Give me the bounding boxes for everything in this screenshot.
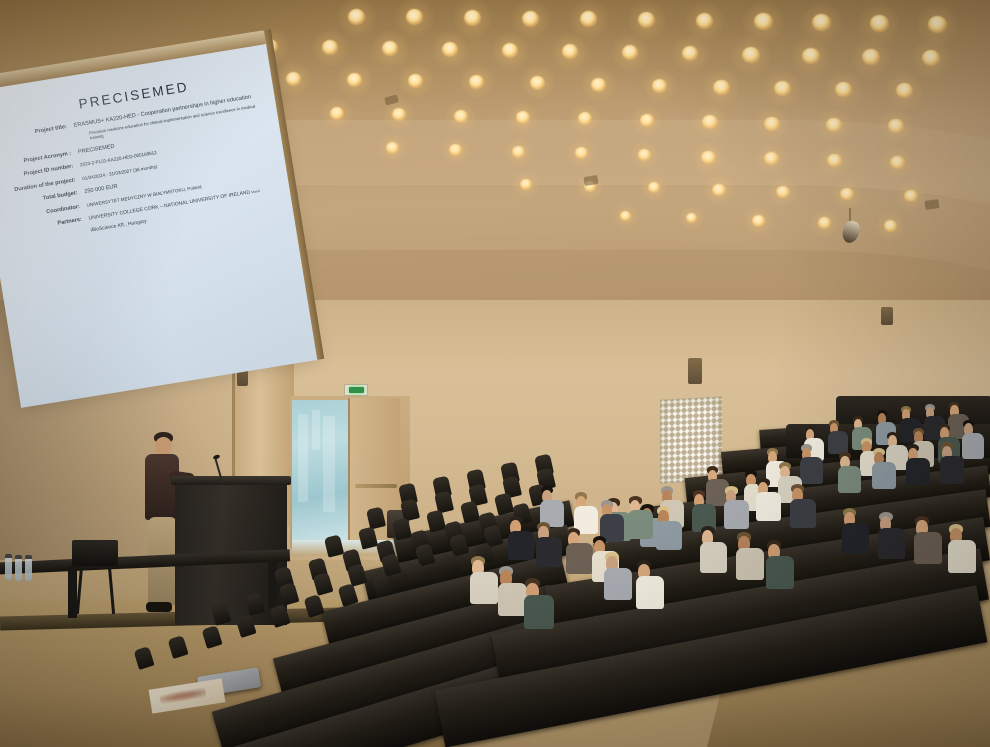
water-bottle: [5, 557, 12, 580]
door-panel: [323, 416, 335, 512]
open-doorway[interactable]: [292, 400, 348, 546]
lecture-hall-photo: PRECISEMED Project title: ERASMUS+ KA220…: [0, 0, 990, 747]
stage-chair[interactable]: [72, 540, 118, 566]
audience-torso: [906, 458, 930, 486]
bottle-cap: [25, 555, 32, 559]
audience-torso: [566, 543, 593, 574]
screen-surface: PRECISEMED Project title: ERASMUS+ KA220…: [0, 44, 317, 408]
presenter-shoe: [146, 602, 172, 612]
audience-torso: [656, 521, 682, 550]
audience-torso: [536, 537, 562, 567]
audience-torso: [628, 510, 653, 539]
audience-torso: [878, 528, 905, 559]
audience-torso: [508, 531, 534, 560]
bottle-cap: [15, 555, 22, 559]
audience-torso: [842, 523, 869, 554]
wall-speaker-icon: [688, 358, 702, 384]
ceiling-vent-icon: [924, 199, 939, 210]
screen-glare: [0, 44, 317, 408]
audience-torso: [756, 492, 781, 521]
water-bottle: [25, 558, 32, 581]
exit-sign-icon: [344, 384, 368, 396]
presenter-torso: [145, 454, 179, 520]
door-panel: [298, 414, 308, 502]
audience-torso: [636, 576, 664, 608]
audience-torso: [940, 456, 964, 484]
audience-torso: [790, 499, 816, 528]
audience-torso: [498, 583, 527, 616]
audience-torso: [800, 457, 823, 483]
bottle-cap: [5, 554, 12, 558]
audience-torso: [766, 556, 794, 588]
audience-torso: [948, 540, 976, 572]
audience-torso: [470, 572, 498, 604]
audience-torso: [700, 542, 727, 573]
audience-torso: [872, 462, 896, 490]
audience-torso: [914, 532, 942, 564]
wall-sensor-icon: [881, 307, 893, 325]
audience-torso: [962, 433, 984, 459]
audience-torso: [524, 595, 554, 629]
audience-torso: [828, 431, 848, 454]
table-leg: [268, 560, 277, 608]
lectern-top: [171, 476, 291, 485]
projection-screen: PRECISEMED Project title: ERASMUS+ KA220…: [0, 44, 319, 418]
audience-torso: [724, 500, 749, 529]
audience-torso: [838, 466, 861, 493]
door-panel: [312, 410, 320, 450]
audience-torso: [736, 548, 764, 580]
handout-graphic: [159, 687, 206, 705]
water-bottle: [15, 558, 22, 581]
door-push-bar[interactable]: [355, 484, 397, 488]
audience-torso: [604, 568, 632, 600]
